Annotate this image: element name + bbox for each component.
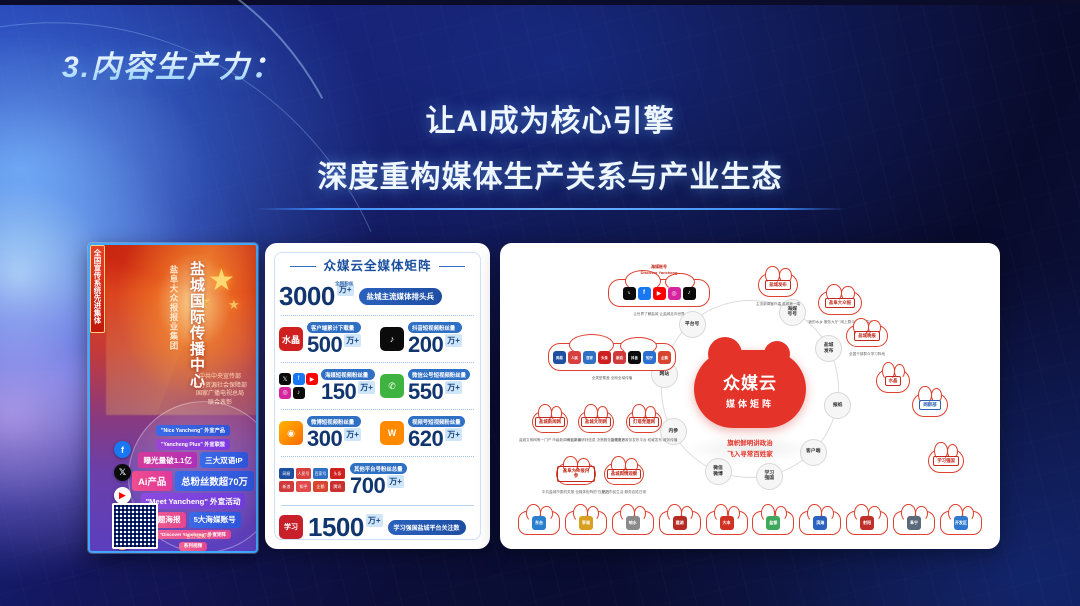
cloud-platform-icon: 新浪 <box>613 351 626 364</box>
matrix-pill: 盐城主流媒体排头兵 <box>359 288 443 305</box>
matrix-row: 网易人民号百家号头条新浪知乎企鹅腾讯其他平台号粉丝总量700万+ <box>279 457 476 503</box>
district-icon: 阜宁 <box>907 516 921 530</box>
cloud-platform-icon: 头条 <box>598 351 611 364</box>
cloud-platform-icon: 人民 <box>568 351 581 364</box>
platform-icon: 百家号 <box>313 468 328 479</box>
douyin-icon: ♪ <box>380 327 404 351</box>
poster-award-badge: 全国宣传系统先进集体 <box>90 245 105 333</box>
matrix-metric-group: 水晶客户端累计下载量500万+ <box>279 322 375 356</box>
cloud-caption: 全国干部群众学习阵地 <box>849 352 885 357</box>
hub-tagline-line-1: 旗帜鲜明讲政治 <box>684 438 816 449</box>
poster-card[interactable]: ★ ★ ★ 盐城国际传播中心 盐阜大众报报业集团 全国宣传系统先进集体 中共中央… <box>88 243 258 553</box>
platform-icon: 网易 <box>279 468 294 479</box>
district-cloud[interactable]: 射阳 <box>846 511 888 535</box>
matrix-unit: 万+ <box>387 475 404 488</box>
cloud-caption: 让世界了解盐城 让盐城走向世界 <box>633 312 684 317</box>
matrix-value-block: 500万+ <box>307 334 361 356</box>
row-separator <box>281 505 474 506</box>
matrix-hero-left: 3000万+全网粉丝 <box>279 283 354 309</box>
matrix-value: 500 <box>307 334 342 356</box>
matrix-metric-text: 微博短视频粉丝量300万+ <box>307 416 361 450</box>
cloud-platform-icon: 抖音 <box>628 351 641 364</box>
star-icon-small: ★ <box>228 297 240 313</box>
matrix-value-block: 1500万+ <box>308 514 383 540</box>
district-cloud[interactable]: 盐都 <box>752 511 794 535</box>
platform-accounts-cloud: 网易人民百家头条新浪抖音知乎企鹅全类型覆盖 全网全域传播 <box>548 343 676 371</box>
slide-root: 3.内容生产力： 让AI成为核心引擎 深度重构媒体生产关系与产业生态 ★ ★ ★… <box>0 0 1080 606</box>
cloud-content: 盐城新闻网 <box>535 417 565 428</box>
websites-cloud: 盐城新闻网盐城文明网等一门户 市级新闻网站平台 <box>532 411 568 433</box>
poster-tag: 曝光量破1.1亿 <box>138 452 197 468</box>
diagram-canvas: 海媒 号号盐城 发布报纸客户端学习 强国微信 微博内参网站平台号 众媒云 媒体矩… <box>508 251 992 541</box>
matrix-metric-group: 𝕏f▶◎♪海媒短视频粉丝量150万+ <box>279 369 375 403</box>
district-icon: 滨海 <box>813 516 827 530</box>
matrix-value: 300 <box>307 428 342 450</box>
cloud-platform-icon: 𝕏 <box>623 287 636 300</box>
top-edge-bar <box>0 0 1080 5</box>
neican-cloud: 盐城文明网专业新闻研判信息 决策服务决策参考 <box>578 411 614 433</box>
poster-tag: "Yancheng Plus" 外宣联盟 <box>156 439 230 450</box>
cloud-content: 盐城文明网 <box>581 417 611 428</box>
matrix-value-block: 150万+ <box>321 381 375 403</box>
district-icon: 东台 <box>532 516 546 530</box>
poster-tag: 系列视频 <box>179 542 207 551</box>
matrix-value: 150 <box>321 381 356 403</box>
matrix-row: 3000万+全网粉丝盐城主流媒体排头兵 <box>279 277 476 315</box>
district-cloud[interactable]: 滨海 <box>799 511 841 535</box>
cloud-brand-label: 盐城晚报 <box>854 331 880 342</box>
youtube-icon[interactable]: ▶ <box>114 487 131 504</box>
matrix-row: ◉微博短视频粉丝量300万+W视频号短视频粉丝量620万+ <box>279 410 476 456</box>
district-cloud[interactable]: 亭湖 <box>565 511 607 535</box>
matrix-value: 1500 <box>308 514 364 540</box>
poster-tag-row: "Yancheng Plus" 外宣联盟 <box>134 439 252 450</box>
platform-icon: 头条 <box>330 468 345 479</box>
ecosystem-diagram-card[interactable]: 海媒 号号盐城 发布报纸客户端学习 强国微信 微博内参网站平台号 众媒云 媒体矩… <box>500 243 1000 549</box>
cloud-caption: 盐城官方政务发布平台 权威发布 政务传播 <box>611 438 678 443</box>
district-cloud[interactable]: 东台 <box>518 511 560 535</box>
hub-title: 众媒云 <box>723 369 777 394</box>
facebook-icon[interactable]: f <box>114 441 131 458</box>
matrix-unit: 万+ <box>445 428 462 441</box>
cloud-platform-icon: 知乎 <box>643 351 656 364</box>
matrix-metric-text: 微信公号短视频粉丝量550万+ <box>408 369 470 403</box>
cloud-top-label: 海媒账号 Discover Yancheng <box>641 264 678 275</box>
diagram-cloud: 水晶 <box>876 369 910 393</box>
matrix-unit: 万+ <box>344 334 361 347</box>
poster-title: 盐城国际传播中心 <box>186 261 207 389</box>
platform-icon: 知乎 <box>296 481 311 492</box>
yancheng-release-cloud: 灯塔党建网盐城官方政务发布平台 权威发布 政务传播 <box>626 411 662 433</box>
cloud-brand-label: 学习强国 <box>933 456 959 467</box>
cloud-brand-label: 水晶 <box>885 376 902 387</box>
other-platform-icons: 网易人民号百家号头条新浪知乎企鹅腾讯 <box>279 468 345 492</box>
matrix-row: 𝕏f▶◎♪海媒短视频粉丝量150万+✆微信公号短视频粉丝量550万+ <box>279 363 476 409</box>
xuexi-qiangguo-icon: 学习 <box>279 515 303 539</box>
cloud-caption: 主流新闻客户端 盐城第一端 <box>756 302 800 307</box>
hub-subtitle: 媒体矩阵 <box>726 397 774 410</box>
section-title: 3.内容生产力： <box>62 42 283 86</box>
social-mini-icon: ▶ <box>306 373 318 385</box>
cloud-brand-label: 网群部 <box>919 400 940 411</box>
matrix-metric-group: ✆微信公号短视频粉丝量550万+ <box>380 369 476 403</box>
cloud-platform-icon: ▶ <box>653 287 666 300</box>
cloud-platform-icon: ♪ <box>683 287 696 300</box>
水晶-app-icon: 水晶 <box>279 327 303 351</box>
matrix-unit: 万+ <box>445 334 462 347</box>
cloud-platform-icon: f <box>638 287 651 300</box>
hub-tagline: 旗帜鲜明讲政治 飞入寻常百姓家 <box>684 434 816 464</box>
poster-tag-row: "Nice Yancheng" 外宣产品 <box>134 425 252 436</box>
diagram-cloud: 学习强国 <box>928 449 964 473</box>
matrix-value: 700 <box>350 475 385 497</box>
cloud-content: 网易人民百家头条新浪抖音知乎企鹅 <box>553 351 671 364</box>
media-matrix-card[interactable]: 众媒云全媒体矩阵 3000万+全网粉丝盐城主流媒体排头兵水晶客户端累计下载量50… <box>265 243 490 549</box>
matrix-metric-group: ◉微博短视频粉丝量300万+ <box>279 416 375 450</box>
social-mini-icon: ♪ <box>293 387 305 399</box>
headline-underline <box>254 208 846 210</box>
cloud-content: 学习强国 <box>933 456 959 467</box>
qr-code[interactable] <box>112 503 158 549</box>
matrix-title: 众媒云全媒体矩阵 <box>265 255 490 274</box>
matrix-unit: 万+ <box>366 514 383 527</box>
cloud-content: 盐阜大众报 <box>825 298 855 309</box>
star-icon-large: ★ <box>208 263 235 298</box>
matrix-value: 550 <box>408 381 443 403</box>
matrix-unit: 万+ <box>344 428 361 441</box>
poster-tag: Ai产品 <box>132 471 172 491</box>
cloud-brand-label: 盐城新闻网 <box>535 417 565 428</box>
district-icon: 响水 <box>626 516 640 530</box>
headline-line-1: 让AI成为核心引擎 <box>230 96 870 140</box>
social-mini-icon: f <box>293 373 305 385</box>
district-icon: 射阳 <box>860 516 874 530</box>
diagram-node[interactable]: 盐城 发布 <box>815 335 842 362</box>
cloud-content: 网群部 <box>919 400 940 411</box>
cloud-caption: 贴近市民生活 服务百姓日常 <box>602 490 646 495</box>
cloud-content: 盐城舆情观察 <box>607 469 641 480</box>
matrix-value: 3000 <box>279 283 335 309</box>
cloud-caption: 全类型覆盖 全网全域传播 <box>592 376 633 381</box>
matrix-metric-group: W视频号短视频粉丝量620万+ <box>380 416 476 450</box>
diagram-bottom-clouds: 东台亭湖响水建湖大丰盐都滨海射阳阜宁开发区 <box>518 511 982 535</box>
matrix-mini-label: 全网粉丝 <box>335 281 353 287</box>
poster-footer-label: 官方视频号 <box>186 533 211 540</box>
matrix-metric-text: 其他平台号粉丝总量700万+ <box>350 463 407 497</box>
matrix-value-block: 300万+ <box>307 428 361 450</box>
matrix-metric-text: 海媒短视频粉丝量150万+ <box>321 369 375 403</box>
yancheng-evening-cloud: 盐城舆情观察贴近市民生活 服务百姓日常 <box>604 463 644 485</box>
overseas-icon-stack: 𝕏f▶◎♪ <box>279 373 317 399</box>
district-cloud[interactable]: 开发区 <box>940 511 982 535</box>
cloud-brand-label: 盐阜大众报内参 <box>557 466 595 482</box>
wechat-icon: ✆ <box>380 374 404 398</box>
diagram-cloud: 网群部 <box>912 393 948 417</box>
district-cloud[interactable]: 响水 <box>612 511 654 535</box>
social-mini-icon: 𝕏 <box>279 373 291 385</box>
matrix-value: 200 <box>408 334 443 356</box>
matrix-unit: 万+ <box>358 381 375 394</box>
headline-block: 让AI成为核心引擎 深度重构媒体生产关系与产业生态 <box>230 96 870 210</box>
district-icon: 盐都 <box>766 516 780 530</box>
xuexi-cloud: 盐城晚报全国干部群众学习阵地 <box>846 325 888 347</box>
channels-icon: W <box>380 421 404 445</box>
cloud-content: 灯塔党建网 <box>629 417 659 428</box>
cloud-content: 盐阜大众报内参 <box>557 466 595 482</box>
matrix-unit: 万+ <box>445 381 462 394</box>
district-icon: 开发区 <box>954 516 968 530</box>
poster-tag: "Nice Yancheng" 外宣产品 <box>156 425 230 436</box>
poster-award-badge-text: 全国宣传系统先进集体 <box>92 249 103 324</box>
matrix-metric-text: 视频号短视频粉丝量620万+ <box>408 416 465 450</box>
district-icon: 建湖 <box>673 516 687 530</box>
poster-tag: 三大双语IP <box>200 452 248 468</box>
cloud-content: 𝕏f▶◎♪ <box>623 287 696 300</box>
matrix-metric-text: 抖音短视频粉丝量200万+ <box>408 322 462 356</box>
matrix-rows: 3000万+全网粉丝盐城主流媒体排头兵水晶客户端累计下载量500万+♪抖音短视频… <box>279 277 476 541</box>
matrix-value: 620 <box>408 428 443 450</box>
title-rule-right <box>439 266 465 268</box>
matrix-title-text: 众媒云全媒体矩阵 <box>323 259 431 273</box>
cloud-content: 水晶 <box>885 376 902 387</box>
x-twitter-icon[interactable]: 𝕏 <box>114 464 131 481</box>
poster-tag: 总粉丝数超70万 <box>175 471 254 491</box>
district-icon: 亭湖 <box>579 516 593 530</box>
platform-icon: 企鹅 <box>313 481 328 492</box>
social-mini-icon: ◎ <box>279 387 291 399</box>
poster-tag-row: Ai产品总粉丝数超70万 <box>134 471 252 491</box>
cloud-platform-icon: ◎ <box>668 287 681 300</box>
title-rule-left <box>290 266 316 268</box>
platform-icon: 新浪 <box>279 481 294 492</box>
poster-tag: 5大海媒账号 <box>189 512 241 528</box>
gov-service-cloud: 盐阜大众报"我的水乡 服务大厅" 网上群众工作新高地 <box>818 291 862 315</box>
cloud-caption: 中共盐城市委机关报 全媒体矩阵的"压舱石" <box>542 490 610 495</box>
cloud-brand-label: 盐阜大众报 <box>825 298 855 309</box>
matrix-value-block: 700万+ <box>350 475 407 497</box>
yanfu-daily-cloud: 盐阜大众报内参中共盐城市委机关报 全媒体矩阵的"压舱石" <box>556 463 596 485</box>
headline-line-2: 深度重构媒体生产关系与产业生态 <box>230 152 870 196</box>
matrix-pill: 学习强国盐城平台关注数 <box>388 520 466 535</box>
cloud-brand-label: 盐城文明网 <box>581 417 611 428</box>
district-cloud[interactable]: 大丰 <box>706 511 748 535</box>
district-cloud[interactable]: 建湖 <box>659 511 701 535</box>
cloud-content: 盐城发布 <box>765 280 791 291</box>
matrix-row: 学习1500万+学习强国盐城平台关注数 <box>279 508 476 546</box>
matrix-value-block: 620万+ <box>408 428 465 450</box>
cloud-platform-icon: 网易 <box>553 351 566 364</box>
matrix-metric-group: ♪抖音短视频粉丝量200万+ <box>380 322 476 356</box>
overseas-accounts-cloud: 𝕏f▶◎♪海媒账号 Discover Yancheng让世界了解盐城 让盐城走向… <box>608 279 710 307</box>
shuijing-app-cloud: 盐城发布主流新闻客户端 盐城第一端 <box>758 273 798 297</box>
district-icon: 大丰 <box>720 516 734 530</box>
diagram-node[interactable]: 报纸 <box>824 392 851 419</box>
diagram-hub: 众媒云 媒体矩阵 <box>694 350 806 428</box>
matrix-row: 水晶客户端累计下载量500万+♪抖音短视频粉丝量200万+ <box>279 316 476 362</box>
weibo-icon: ◉ <box>279 421 303 445</box>
matrix-metric-text: 客户端累计下载量500万+ <box>307 322 361 356</box>
cloud-brand-label: 灯塔党建网 <box>629 417 659 428</box>
platform-icon: 人民号 <box>296 468 311 479</box>
cloud-content: 盐城晚报 <box>854 331 880 342</box>
poster-subtitle: 盐阜大众报报业集团 <box>168 265 180 351</box>
cloud-platform-icon: 企鹅 <box>658 351 671 364</box>
matrix-value-block: 200万+ <box>408 334 462 356</box>
cloud-brand-label: 盐城发布 <box>765 280 791 291</box>
diagram-node[interactable]: 学习 强国 <box>756 463 783 490</box>
platform-icon: 腾讯 <box>330 481 345 492</box>
district-cloud[interactable]: 阜宁 <box>893 511 935 535</box>
poster-tag-row: 曝光量破1.1亿三大双语IP <box>134 452 252 468</box>
matrix-value-block: 550万+ <box>408 381 470 403</box>
cloud-brand-label: 盐城舆情观察 <box>607 469 641 480</box>
cloud-platform-icon: 百家 <box>583 351 596 364</box>
hub-tagline-line-2: 飞入寻常百姓家 <box>684 449 816 460</box>
